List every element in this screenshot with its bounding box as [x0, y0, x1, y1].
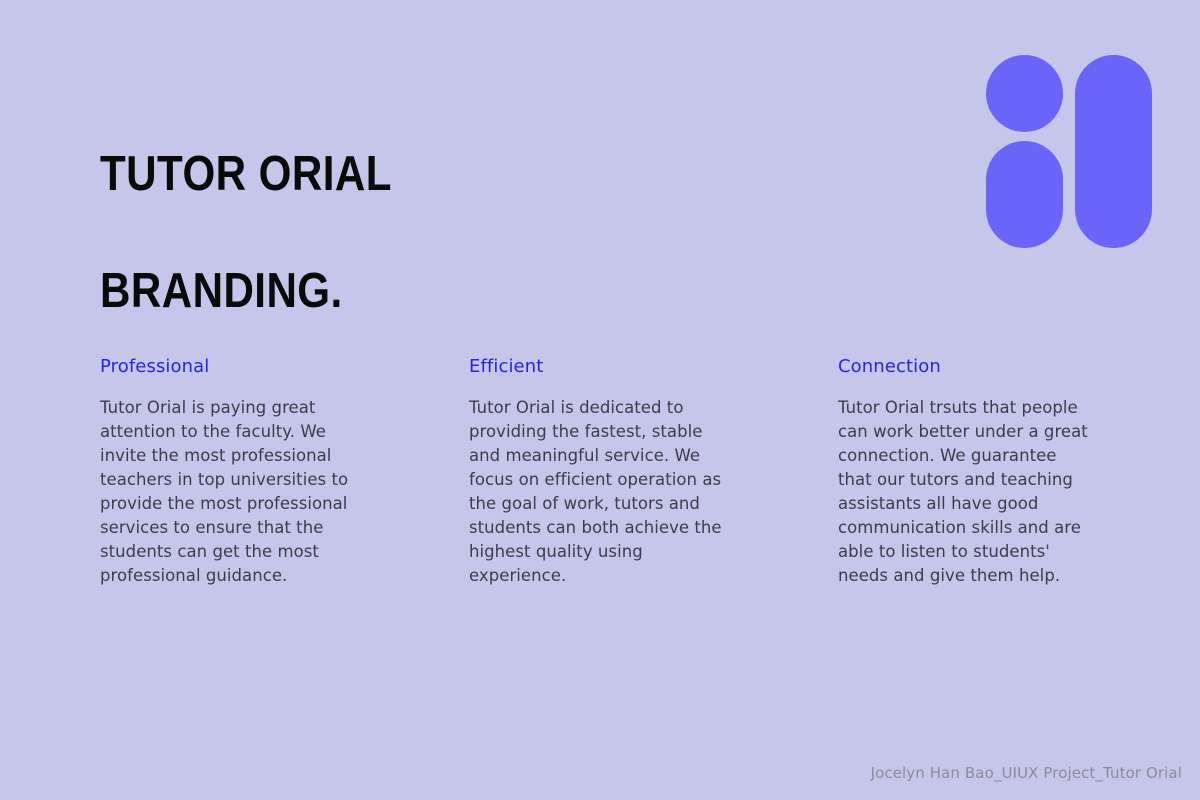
column-efficient: Efficient Tutor Orial is dedicated to pr…	[469, 358, 724, 588]
logo-pill-tall-shape	[1075, 55, 1152, 248]
column-body-professional: Tutor Orial is paying great attention to…	[100, 396, 355, 588]
column-body-connection: Tutor Orial trsuts that people can work …	[838, 396, 1093, 588]
logo-circle-shape	[986, 55, 1063, 132]
branding-slide: TUTOR ORIAL BRANDING. Professional Tutor…	[0, 0, 1200, 800]
page-title: TUTOR ORIAL	[100, 150, 392, 199]
tutor-orial-logo-mark	[986, 55, 1152, 248]
page-subtitle: BRANDING.	[100, 267, 392, 316]
column-professional: Professional Tutor Orial is paying great…	[100, 358, 355, 588]
footer-credit: Jocelyn Han Bao_UIUX Project_Tutor Orial	[871, 764, 1182, 782]
column-connection: Connection Tutor Orial trsuts that peopl…	[838, 358, 1093, 588]
column-heading-connection: Connection	[838, 358, 1093, 376]
title-block: TUTOR ORIAL BRANDING.	[100, 150, 439, 316]
value-columns: Professional Tutor Orial is paying great…	[100, 358, 1110, 588]
column-body-efficient: Tutor Orial is dedicated to providing th…	[469, 396, 724, 588]
column-heading-professional: Professional	[100, 358, 355, 376]
column-heading-efficient: Efficient	[469, 358, 724, 376]
logo-pill-small-shape	[986, 141, 1063, 248]
